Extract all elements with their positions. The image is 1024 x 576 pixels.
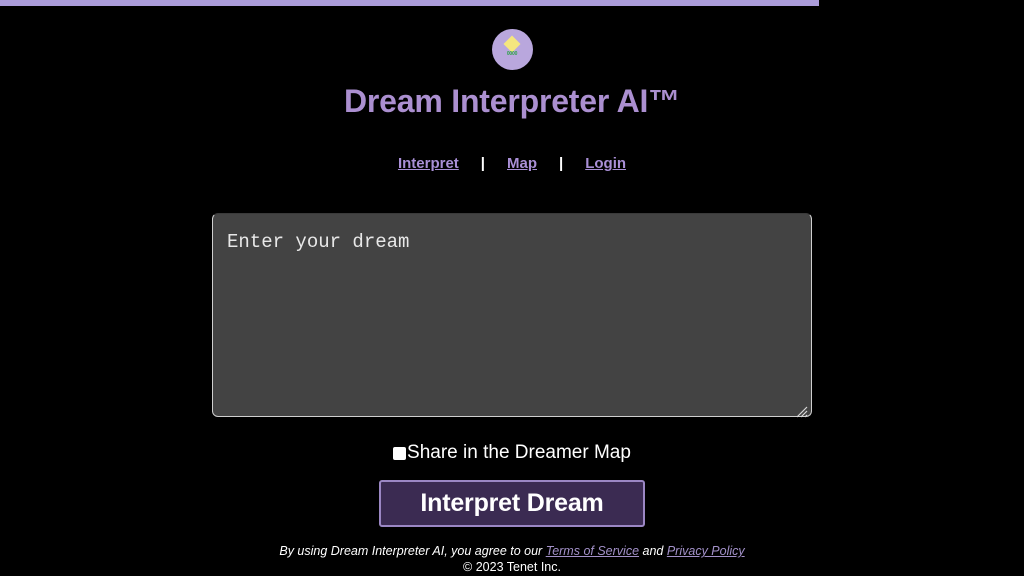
page-title: Dream Interpreter AI™ <box>344 82 680 120</box>
logo-mark-text: 0000 <box>492 51 533 57</box>
footer-terms-line: By using Dream Interpreter AI, you agree… <box>279 543 744 559</box>
nav-link-login[interactable]: Login <box>585 155 626 172</box>
nav-separator: | <box>459 155 507 172</box>
nav-separator: | <box>537 155 585 172</box>
dream-input[interactable] <box>212 213 812 417</box>
dream-orb-icon: 0000 <box>492 29 533 70</box>
share-in-map-checkbox[interactable] <box>393 447 406 460</box>
footer-copyright: © 2023 Tenet Inc. <box>279 559 744 575</box>
interpret-dream-button[interactable]: Interpret Dream <box>379 480 645 527</box>
footer: By using Dream Interpreter AI, you agree… <box>279 543 744 575</box>
share-in-map-label[interactable]: Share in the Dreamer Map <box>407 442 631 464</box>
footer-terms-middle: and <box>639 544 667 558</box>
privacy-policy-link[interactable]: Privacy Policy <box>667 544 745 558</box>
nav-link-interpret[interactable]: Interpret <box>398 155 459 172</box>
main-nav: Interpret | Map | Login <box>398 155 626 172</box>
page-container: 0000 Dream Interpreter AI™ Interpret | M… <box>0 0 1024 576</box>
footer-terms-prefix: By using Dream Interpreter AI, you agree… <box>279 544 545 558</box>
nav-link-map[interactable]: Map <box>507 155 537 172</box>
share-in-map-row: Share in the Dreamer Map <box>393 442 631 464</box>
terms-of-service-link[interactable]: Terms of Service <box>546 544 639 558</box>
diamond-icon <box>504 36 521 53</box>
dream-input-wrapper <box>212 172 812 422</box>
